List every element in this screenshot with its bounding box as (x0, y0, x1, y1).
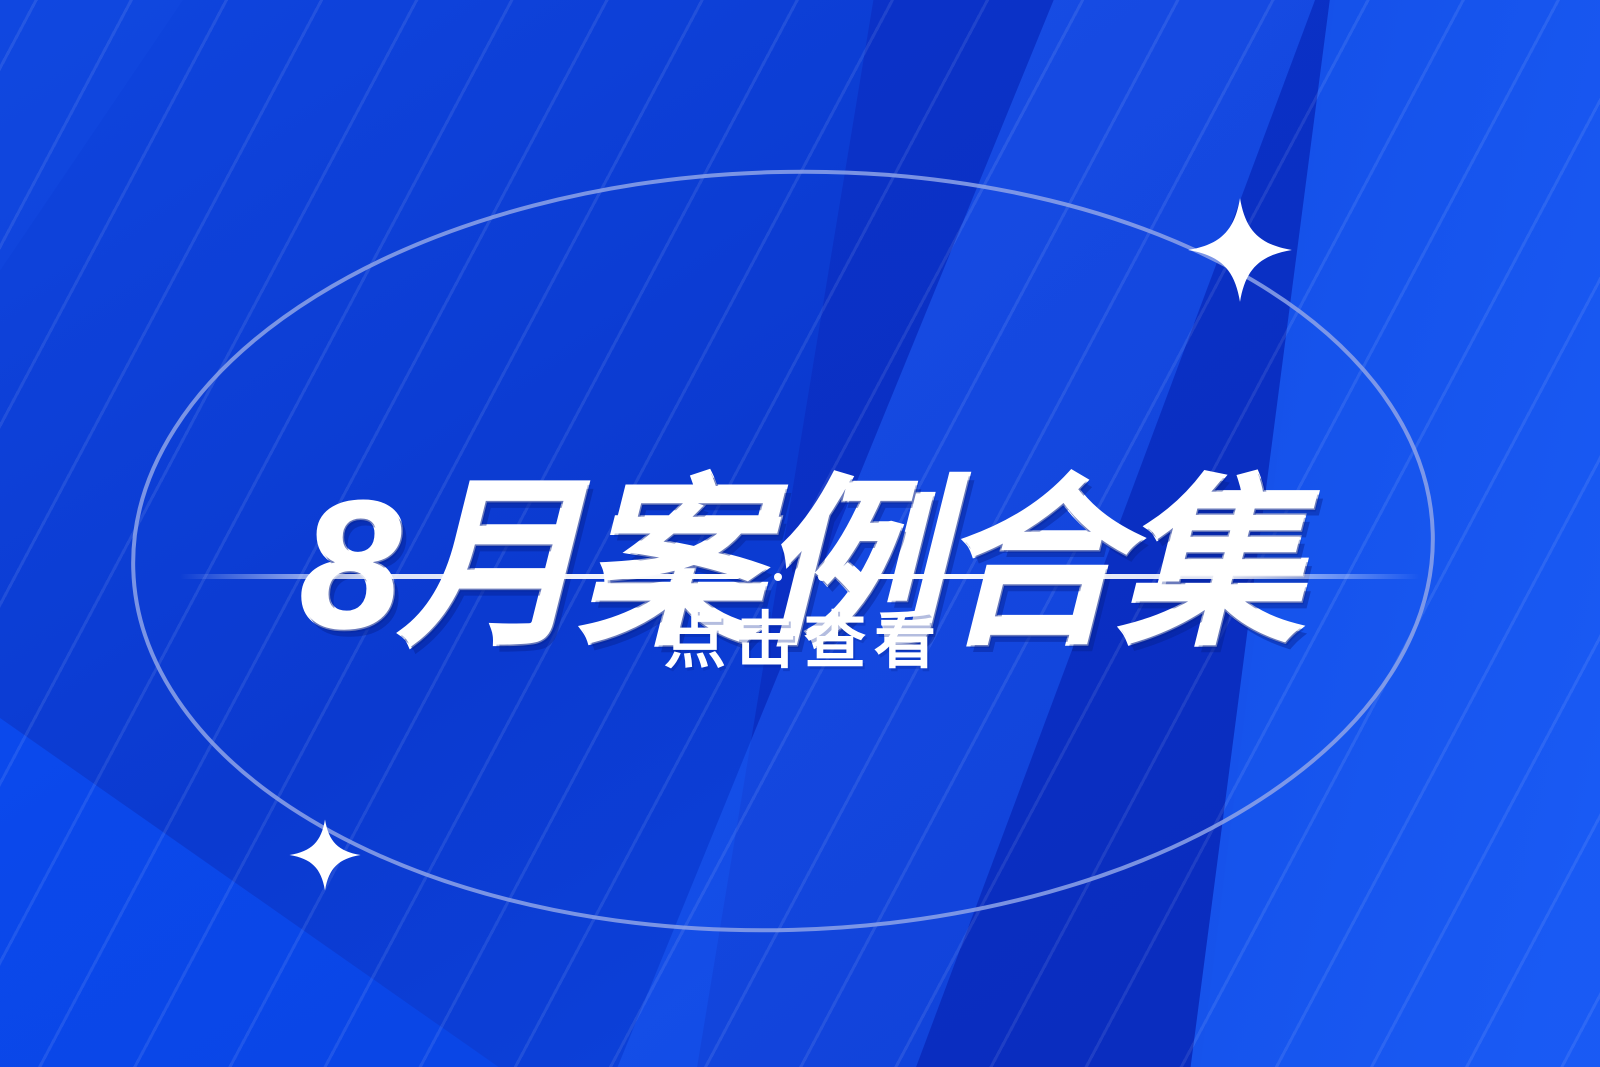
divider-dot (796, 573, 804, 581)
divider (165, 566, 1435, 586)
promo-banner[interactable]: 8月案例合集 点击查看 (0, 0, 1600, 1067)
call-to-action-label[interactable]: 点击查看 (0, 608, 1600, 676)
divider-line-left (180, 574, 740, 579)
divider-dots (774, 573, 826, 581)
divider-line-right (860, 574, 1420, 579)
banner-content: 8月案例合集 点击查看 (0, 0, 1600, 1067)
divider-dot (818, 573, 826, 581)
divider-dot (774, 573, 782, 581)
